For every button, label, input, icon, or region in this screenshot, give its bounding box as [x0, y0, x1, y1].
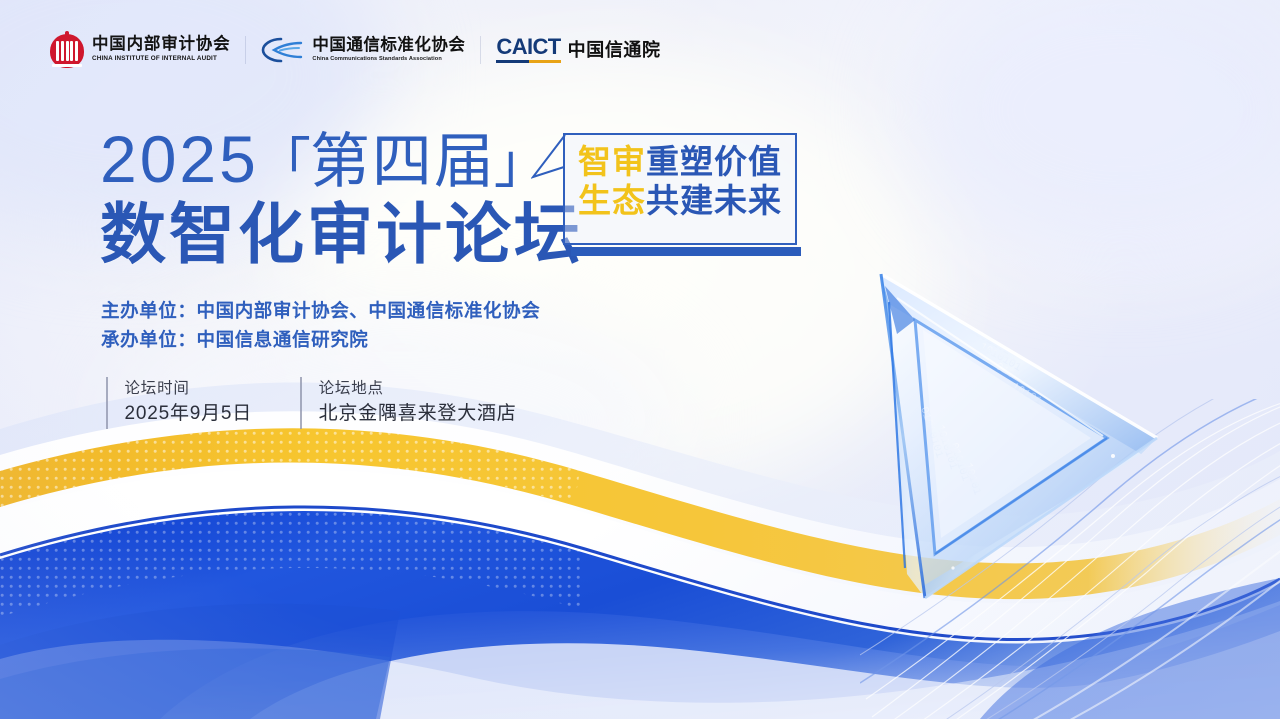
logo-divider [480, 36, 481, 64]
headline-year: 2025 [100, 126, 259, 192]
organizer-block: 主办单位：中国内部审计协会、中国通信标准化协会 承办单位：中国信息通信研究院 [101, 297, 540, 354]
headline-bracket-open: 「 [257, 137, 312, 191]
headline-ordinal: 第四届 [310, 132, 496, 192]
slogan-row-2: 生态共建未来 [578, 183, 782, 219]
slogan-row-1-gold: 智审 [578, 143, 646, 180]
executive-organization: 承办单位：中国信息通信研究院 [101, 326, 540, 355]
crystal-triangle-prism-icon: 01001101 1010101 010110 10101 01010101 1… [845, 268, 1185, 608]
meta-time-value: 2025年9月5日 [125, 400, 253, 429]
logo-bar: 中国内部审计协会 CHINA INSTITUTE OF INTERNAL AUD… [50, 27, 661, 72]
logo-ccsa-cn: 中国通信标准化协会 [312, 36, 465, 54]
meta-venue-value: 北京金隅喜来登大酒店 [319, 400, 517, 429]
slogan-row-2-gold: 生态 [578, 182, 646, 219]
logo-caict-cn: 中国信通院 [568, 41, 661, 59]
logo-caict: CAICT 中国信通院 [496, 36, 660, 63]
logo-divider [245, 36, 246, 64]
logo-china-communications-standards-association: 中国通信标准化协会 China Communications Standards… [261, 36, 465, 63]
slogan-callout: 智审重塑价值 生态共建未来 [563, 133, 797, 245]
poster-canvas: 01001101 1010101 010110 10101 01010101 1… [0, 0, 1280, 719]
meta-venue-label: 论坛地点 [319, 377, 517, 400]
host-organization: 主办单位：中国内部审计协会、中国通信标准化协会 [101, 297, 540, 326]
meta-divider [106, 377, 108, 429]
background-blob [910, 0, 1280, 260]
caict-wordmark-icon: CAICT [496, 36, 560, 63]
slogan-underbar [571, 247, 801, 256]
temple-dome-icon [50, 32, 84, 68]
meta-venue: 论坛地点 北京金隅喜来登大酒店 [300, 377, 517, 429]
event-meta: 论坛时间 2025年9月5日 论坛地点 北京金隅喜来登大酒店 [106, 377, 517, 429]
logo-ciia-cn: 中国内部审计协会 [92, 36, 230, 54]
slogan-row-1-blue: 重塑价值 [646, 143, 782, 180]
logo-ccsa-en: China Communications Standards Associati… [312, 56, 465, 63]
logo-ciia-en: CHINA INSTITUTE OF INTERNAL AUDIT [92, 55, 233, 63]
slogan-row-1: 智审重塑价值 [578, 144, 782, 180]
callout-tail-icon [531, 133, 567, 181]
meta-divider [300, 377, 302, 429]
swoosh-c-icon [261, 37, 303, 63]
logo-china-institute-of-internal-audit: 中国内部审计协会 CHINA INSTITUTE OF INTERNAL AUD… [50, 32, 230, 68]
meta-time-label: 论坛时间 [125, 377, 253, 400]
meta-time: 论坛时间 2025年9月5日 [106, 377, 252, 429]
logo-caict-abbr: CAICT [496, 36, 560, 58]
slogan-row-2-blue: 共建未来 [646, 182, 782, 219]
